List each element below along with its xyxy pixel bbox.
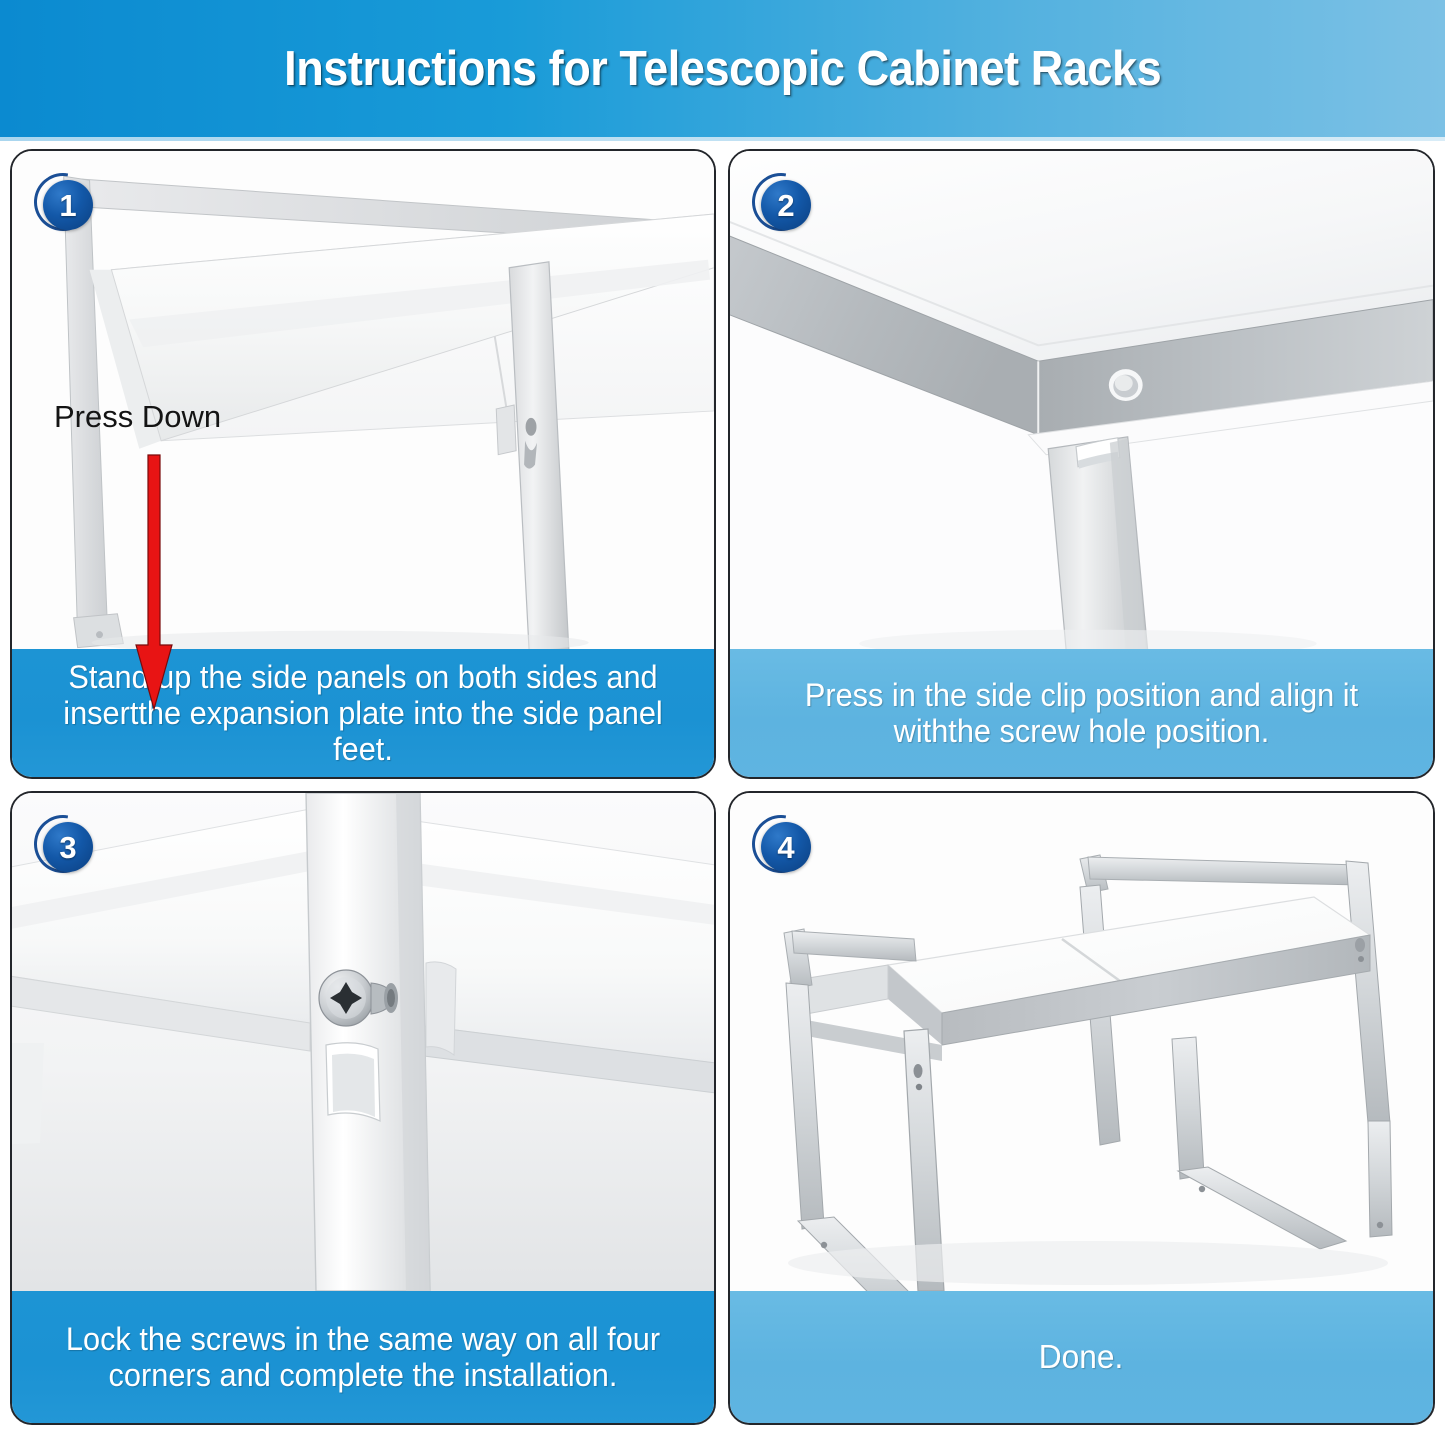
header-underline [0, 137, 1445, 141]
step-number: 2 [777, 190, 794, 221]
step-panel-1: Press Down 1 Stand up the side panels on… [10, 149, 716, 779]
step-2-caption: Press in the side clip position and alig… [730, 649, 1433, 777]
corner-clip-screwhole-illustration [730, 151, 1433, 649]
step-panel-4: 4 Done. [728, 791, 1435, 1425]
page-header: Instructions for Telescopic Cabinet Rack… [0, 0, 1445, 137]
step-number: 4 [777, 832, 794, 863]
step-badge-2: 2 [752, 173, 814, 235]
step-4-photo [730, 793, 1433, 1291]
step-2-photo [730, 151, 1433, 649]
caption-text: Lock the screws in the same way on all f… [39, 1321, 686, 1393]
step-number: 3 [59, 832, 76, 863]
step-3-caption: Lock the screws in the same way on all f… [12, 1291, 714, 1423]
step-panel-3: 3 Lock the screws in the same way on all… [10, 791, 716, 1425]
press-down-label: Press Down [54, 399, 221, 435]
step-3-photo [12, 793, 714, 1291]
step-4-caption: Done. [730, 1291, 1433, 1423]
step-number: 1 [59, 190, 76, 221]
page-title: Instructions for Telescopic Cabinet Rack… [284, 41, 1161, 97]
caption-text: Done. [1039, 1338, 1124, 1375]
down-arrow-icon [134, 453, 174, 711]
assembled-rack-illustration [730, 793, 1433, 1291]
badge-disc: 3 [43, 822, 93, 872]
badge-disc: 2 [761, 180, 811, 230]
screw-lock-illustration [12, 793, 714, 1291]
steps-grid: Press Down 1 Stand up the side panels on… [0, 147, 1445, 1430]
step-panel-2: 2 Press in the side clip position and al… [728, 149, 1435, 779]
step-badge-3: 3 [34, 815, 96, 877]
step-1-caption: Stand up the side panels on both sides a… [12, 649, 714, 777]
step-badge-4: 4 [752, 815, 814, 877]
badge-disc: 4 [761, 822, 811, 872]
badge-disc: 1 [43, 180, 93, 230]
caption-text: Press in the side clip position and alig… [758, 677, 1406, 749]
step-badge-1: 1 [34, 173, 96, 235]
